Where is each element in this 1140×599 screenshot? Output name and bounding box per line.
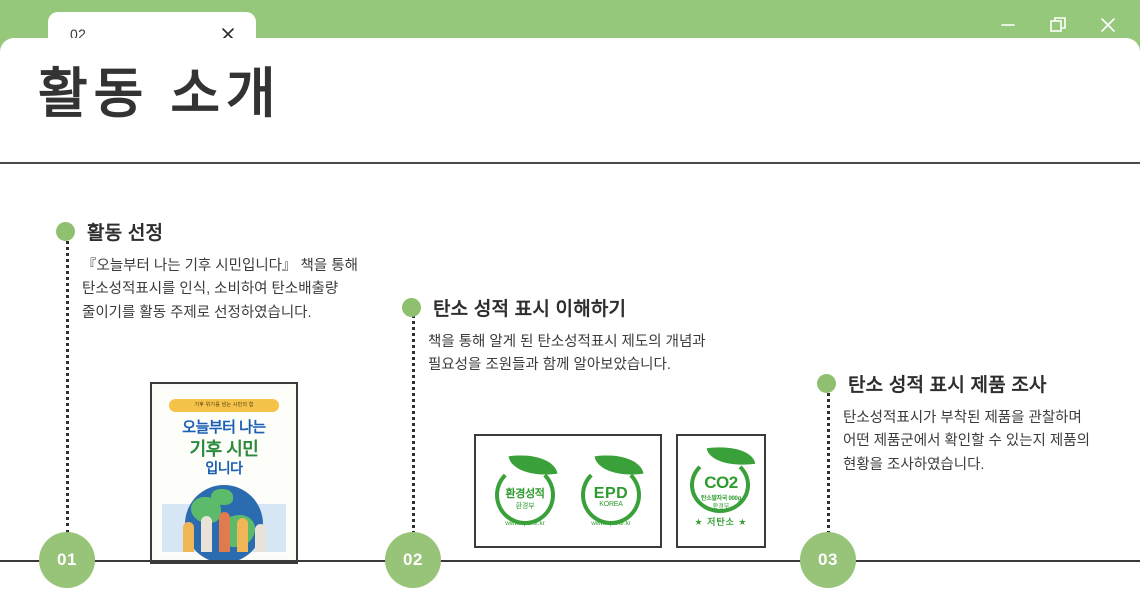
bullet-circle-icon xyxy=(817,374,836,393)
book-band-text: 기후 위기를 넘는 시민의 힘 xyxy=(169,399,279,412)
step-heading-row: 탄소 성적 표시 제품 조사 xyxy=(817,370,1090,397)
step-heading: 탄소 성적 표시 이해하기 xyxy=(433,294,626,321)
timeline-node-02[interactable]: 02 xyxy=(385,532,441,588)
logo-url-text: www.epd.or.kr xyxy=(488,520,562,527)
hands-illustration xyxy=(157,506,291,552)
book-cover-image: 기후 위기를 넘는 시민의 힘 오늘부터 나는 기후 시민 입니다 xyxy=(150,382,298,564)
close-icon[interactable] xyxy=(1092,9,1124,41)
restore-icon[interactable] xyxy=(1042,9,1074,41)
step-heading: 활동 선정 xyxy=(87,218,163,245)
step-heading: 탄소 성적 표시 제품 조사 xyxy=(848,370,1047,397)
logo-sub-text: 환경부 xyxy=(488,501,562,511)
book-cover-inner: 기후 위기를 넘는 시민의 힘 오늘부터 나는 기후 시민 입니다 xyxy=(157,389,291,557)
logo-sub-text-2: 환경부 xyxy=(684,501,758,510)
title-divider xyxy=(0,162,1140,164)
book-title-line1: 오늘부터 나는 xyxy=(157,416,291,437)
step-heading-row: 탄소 성적 표시 이해하기 xyxy=(402,294,706,321)
logo-url-text: www.epd.or.kr xyxy=(574,520,648,527)
slide-page: 활동 소개 활동 선정 『오늘부터 나는 기후 시민입니다』 책을 통해 탄소성… xyxy=(0,38,1140,599)
carbon-footprint-logo-box: CO2 탄소발자국 000g 환경부 ★ 저탄소 ★ xyxy=(676,434,766,548)
epd-label-icon: EPD KOREA www.epd.or.kr xyxy=(574,449,648,533)
book-title-line3: 입니다 xyxy=(157,458,291,478)
logo-main-text: 환경성적 xyxy=(488,485,562,501)
window-controls xyxy=(992,8,1124,42)
hand-shape xyxy=(219,512,230,552)
logo-row: 환경성적 환경부 www.epd.or.kr EPD KOREA www.epd… xyxy=(482,442,654,540)
step-body: 책을 통해 알게 된 탄소성적표시 제도의 개념과 필요성을 조원들과 함께 알… xyxy=(428,331,706,378)
step-body: 탄소성적표시가 부착된 제품을 관찰하며 어떤 제품군에서 확인할 수 있는지 … xyxy=(843,407,1090,477)
page-title: 활동 소개 xyxy=(38,62,282,127)
timeline-baseline xyxy=(0,560,1140,562)
hand-shape xyxy=(201,516,212,552)
environmental-label-icon: 환경성적 환경부 www.epd.or.kr xyxy=(488,449,562,533)
step-block-01: 활동 선정 『오늘부터 나는 기후 시민입니다』 책을 통해 탄소성적표시를 인… xyxy=(56,218,358,325)
step-body: 『오늘부터 나는 기후 시민입니다』 책을 통해 탄소성적표시를 인식, 소비하… xyxy=(82,255,358,325)
bullet-circle-icon xyxy=(402,298,421,317)
logo-bottom-text: ★ 저탄소 ★ xyxy=(684,515,758,528)
logo-main-text: CO2 xyxy=(684,473,758,493)
presentation-window: 02 xyxy=(0,0,1140,599)
step-heading-row: 활동 선정 xyxy=(56,218,358,245)
hand-shape xyxy=(183,522,194,552)
timeline-node-01[interactable]: 01 xyxy=(39,532,95,588)
hand-shape xyxy=(255,524,266,552)
globe-landmass xyxy=(211,489,233,505)
hand-shape xyxy=(237,518,248,552)
timeline-node-03[interactable]: 03 xyxy=(800,532,856,588)
logo-wrap: CO2 탄소발자국 000g 환경부 ★ 저탄소 ★ xyxy=(684,442,758,540)
minimize-icon[interactable] xyxy=(992,9,1024,41)
logo-sub-text: KOREA xyxy=(574,501,648,508)
bullet-circle-icon xyxy=(56,222,75,241)
co2-label-icon: CO2 탄소발자국 000g 환경부 ★ 저탄소 ★ xyxy=(684,443,758,539)
step-block-03: 탄소 성적 표시 제품 조사 탄소성적표시가 부착된 제품을 관찰하며 어떤 제… xyxy=(817,370,1090,477)
step-block-02: 탄소 성적 표시 이해하기 책을 통해 알게 된 탄소성적표시 제도의 개념과 … xyxy=(402,294,706,378)
certification-logo-pair-box: 환경성적 환경부 www.epd.or.kr EPD KOREA www.epd… xyxy=(474,434,662,548)
